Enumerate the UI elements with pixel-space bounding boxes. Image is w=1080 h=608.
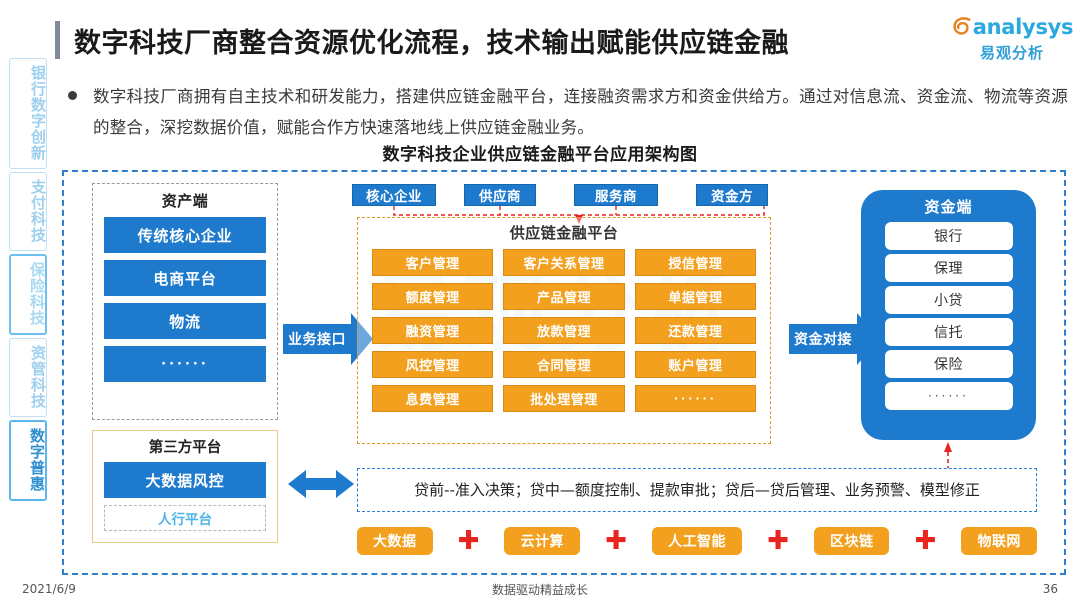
platform-cell-contract-management[interactable]: 合同管理 xyxy=(503,351,624,378)
slide-footer: 2021/6/9 数据驱动精益成长 36 xyxy=(0,580,1080,598)
third-party-item-pboc-platform[interactable]: 人行平台 xyxy=(104,505,266,531)
platform-cell-quota-management[interactable]: 额度管理 xyxy=(372,283,493,310)
tech-tag-iot[interactable]: 物联网 xyxy=(961,527,1037,555)
platform-cell-risk-control-management[interactable]: 风控管理 xyxy=(372,351,493,378)
tech-tag-ai[interactable]: 人工智能 xyxy=(652,527,742,555)
tech-tag-big-data[interactable]: 大数据 xyxy=(357,527,433,555)
arrow-business-interface-label: 业务接口 xyxy=(283,324,351,354)
platform-cell-customer-management[interactable]: 客户管理 xyxy=(372,249,493,276)
asset-item-ecommerce-platform[interactable]: 电商平台 xyxy=(104,260,266,296)
platform-cell-batch-processing[interactable]: 批处理管理 xyxy=(503,385,624,412)
third-party-title: 第三方平台 xyxy=(93,436,277,457)
fund-item-trust[interactable]: 信托 xyxy=(885,318,1013,346)
page-title: 数字科技厂商整合资源优化流程，技术输出赋能供应链金融 xyxy=(74,21,789,60)
logo-wordmark-row: analysys xyxy=(951,13,1073,41)
logo-swirl-icon xyxy=(951,15,973,39)
platform-cell-account-management[interactable]: 账户管理 xyxy=(635,351,756,378)
diagram-title: 数字科技企业供应链金融平台应用架构图 xyxy=(0,140,1080,165)
platform-cell-product-management[interactable]: 产品管理 xyxy=(503,283,624,310)
platform-cell-financing-management[interactable]: 融资管理 xyxy=(372,317,493,344)
platform-cell-more[interactable]: ······ xyxy=(635,385,756,412)
fund-item-factoring[interactable]: 保理 xyxy=(885,254,1013,282)
body-paragraph: 数字科技厂商拥有自主技术和研发能力，搭建供应链金融平台，连接融资需求方和资金供给… xyxy=(93,82,1068,143)
sidebar-item-insurance-tech[interactable]: 保险科技 xyxy=(9,254,47,335)
analysys-logo: analysys 易观分析 xyxy=(956,12,1068,64)
platform-cell-interest-fee-management[interactable]: 息费管理 xyxy=(372,385,493,412)
plus-icon-1: ✚ xyxy=(458,528,480,554)
platform-cell-loan-disbursement[interactable]: 放款管理 xyxy=(503,317,624,344)
role-tag-service-provider[interactable]: 服务商 xyxy=(574,184,658,206)
role-tag-supplier[interactable]: 供应商 xyxy=(464,184,536,206)
asset-item-more[interactable]: ······ xyxy=(104,346,266,382)
slide-page: 数字科技厂商整合资源优化流程，技术输出赋能供应链金融 analysys 易观分析… xyxy=(0,0,1080,608)
tech-tag-cloud-computing[interactable]: 云计算 xyxy=(504,527,580,555)
asset-item-core-enterprise[interactable]: 传统核心企业 xyxy=(104,217,266,253)
fund-item-bank[interactable]: 银行 xyxy=(885,222,1013,250)
fund-side-title: 资金端 xyxy=(861,196,1036,217)
bidirectional-arrow-icon xyxy=(288,466,354,502)
asset-side-title: 资产端 xyxy=(93,190,277,211)
sidebar-item-payment-tech[interactable]: 支付科技 xyxy=(9,172,47,251)
sidebar-item-asset-management-tech[interactable]: 资管科技 xyxy=(9,338,47,417)
supply-chain-finance-platform-panel: 供应链金融平台 客户管理 客户关系管理 授信管理 额度管理 产品管理 单据管理 … xyxy=(357,217,771,444)
arrow-funding-connection-label: 资金对接 xyxy=(789,324,857,354)
platform-cell-crm[interactable]: 客户关系管理 xyxy=(503,249,624,276)
platform-title: 供应链金融平台 xyxy=(358,222,770,243)
platform-cell-repayment-management[interactable]: 还款管理 xyxy=(635,317,756,344)
third-party-panel: 第三方平台 大数据风控 人行平台 xyxy=(92,430,278,543)
technology-tags-row: 大数据 ✚ 云计算 ✚ 人工智能 ✚ 区块链 ✚ 物联网 xyxy=(357,525,1037,557)
sidebar-item-digital-inclusive-finance[interactable]: 数字普惠 xyxy=(9,420,47,501)
fund-item-insurance[interactable]: 保险 xyxy=(885,350,1013,378)
loan-lifecycle-note: 贷前--准入决策；贷中—额度控制、提款审批；贷后—贷后管理、业务预警、模型修正 xyxy=(357,468,1037,512)
footer-tagline: 数据驱动精益成长 xyxy=(0,581,1080,598)
tech-tag-blockchain[interactable]: 区块链 xyxy=(814,527,890,555)
role-tag-core-enterprise[interactable]: 核心企业 xyxy=(352,184,436,206)
asset-side-panel: 资产端 传统核心企业 电商平台 物流 ······ xyxy=(92,183,278,420)
bullet-dot-icon xyxy=(68,91,77,100)
plus-icon-4: ✚ xyxy=(915,528,937,554)
asset-item-logistics[interactable]: 物流 xyxy=(104,303,266,339)
platform-cell-credit-management[interactable]: 授信管理 xyxy=(635,249,756,276)
logo-wordmark: analysys xyxy=(973,15,1073,39)
platform-module-grid: 客户管理 客户关系管理 授信管理 额度管理 产品管理 单据管理 融资管理 放款管… xyxy=(358,249,770,412)
footer-page-number: 36 xyxy=(1043,582,1058,596)
body-bullet-row: 数字科技厂商拥有自主技术和研发能力，搭建供应链金融平台，连接融资需求方和资金供给… xyxy=(68,82,1068,143)
role-tag-funder[interactable]: 资金方 xyxy=(696,184,768,206)
page-title-bar: 数字科技厂商整合资源优化流程，技术输出赋能供应链金融 xyxy=(55,16,935,64)
logo-chinese-name: 易观分析 xyxy=(980,42,1044,63)
sidebar-vertical-tabs[interactable]: 银行数字创新 支付科技 保险科技 资管科技 数字普惠 xyxy=(8,58,50,504)
platform-cell-document-management[interactable]: 单据管理 xyxy=(635,283,756,310)
plus-icon-3: ✚ xyxy=(767,528,789,554)
plus-icon-2: ✚ xyxy=(605,528,627,554)
fund-side-panel: 资金端 银行 保理 小贷 信托 保险 ······ xyxy=(861,190,1036,440)
fund-item-microloan[interactable]: 小贷 xyxy=(885,286,1013,314)
fund-item-more[interactable]: ······ xyxy=(885,382,1013,410)
third-party-item-bigdata-riskcontrol[interactable]: 大数据风控 xyxy=(104,462,266,498)
fund-side-uplink-arrow-icon xyxy=(938,440,958,470)
title-accent-rule xyxy=(55,21,60,59)
